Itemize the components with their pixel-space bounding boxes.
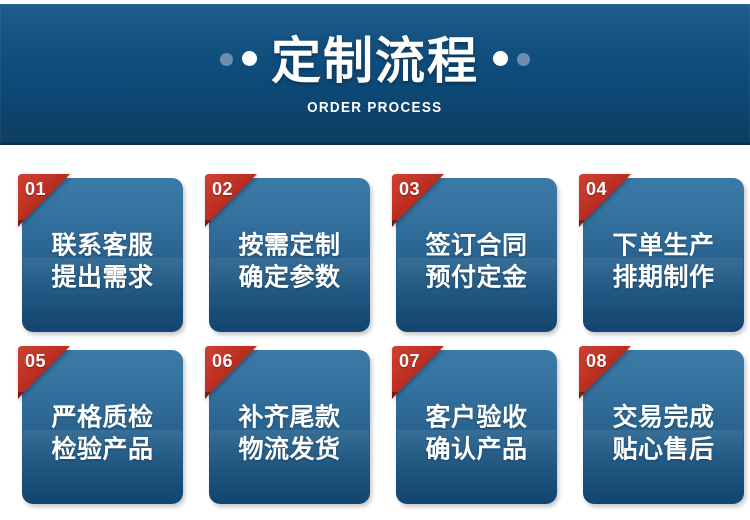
page-subtitle: ORDER PROCESS	[307, 100, 442, 116]
step-card[interactable]: 06 补齐尾款 物流发货	[209, 350, 370, 504]
step-line-1: 交易完成	[583, 403, 744, 435]
step-line-2: 排期制作	[583, 262, 744, 294]
step-line-1: 联系客服	[22, 231, 183, 263]
step-line-1: 客户验收	[396, 403, 557, 435]
step-card-text: 严格质检 检验产品	[22, 389, 183, 466]
dot-muted-icon	[220, 53, 233, 66]
step-number: 01	[25, 180, 46, 198]
decorative-dots-left	[220, 51, 257, 70]
step-card-text: 客户验收 确认产品	[396, 389, 557, 466]
step-card[interactable]: 04 下单生产 排期制作	[583, 178, 744, 332]
step-card-text: 按需定制 确定参数	[209, 217, 370, 294]
step-card-row-2: 05 严格质检 检验产品	[0, 350, 750, 504]
step-card[interactable]: 05 严格质检 检验产品	[22, 350, 183, 504]
dot-white-icon	[242, 51, 257, 66]
step-card[interactable]: 08 交易完成 贴心售后	[583, 350, 744, 504]
step-card[interactable]: 03 签订合同 预付定金	[396, 178, 557, 332]
step-line-1: 补齐尾款	[209, 403, 370, 435]
step-line-2: 确认产品	[396, 434, 557, 466]
step-line-2: 确定参数	[209, 262, 370, 294]
step-card[interactable]: 01 联系客服 提出需求	[22, 178, 183, 332]
title-row: 定制流程	[220, 36, 530, 86]
step-card-text: 交易完成 贴心售后	[583, 389, 744, 466]
step-line-2: 贴心售后	[583, 434, 744, 466]
decorative-dots-right	[493, 51, 530, 70]
step-card-text: 下单生产 排期制作	[583, 217, 744, 294]
page-title: 定制流程	[271, 36, 479, 86]
step-card[interactable]: 07 客户验收 确认产品	[396, 350, 557, 504]
header-banner: 定制流程 ORDER PROCESS	[0, 4, 750, 145]
step-card-text: 联系客服 提出需求	[22, 217, 183, 294]
step-card-text: 签订合同 预付定金	[396, 217, 557, 294]
step-number: 04	[586, 180, 607, 198]
step-line-1: 按需定制	[209, 231, 370, 263]
step-line-2: 检验产品	[22, 434, 183, 466]
step-number: 06	[212, 352, 233, 370]
step-card-text: 补齐尾款 物流发货	[209, 389, 370, 466]
step-line-1: 下单生产	[583, 231, 744, 263]
step-line-2: 物流发货	[209, 434, 370, 466]
step-line-2: 提出需求	[22, 262, 183, 294]
dot-muted-icon	[517, 53, 530, 66]
step-number: 03	[399, 180, 420, 198]
step-line-1: 严格质检	[22, 403, 183, 435]
step-card-row-1: 01 联系客服 提出需求	[0, 178, 750, 332]
step-number: 07	[399, 352, 420, 370]
step-line-2: 预付定金	[396, 262, 557, 294]
step-line-1: 签订合同	[396, 231, 557, 263]
step-number: 08	[586, 352, 607, 370]
step-card[interactable]: 02 按需定制 确定参数	[209, 178, 370, 332]
dot-white-icon	[493, 51, 508, 66]
step-card-grid: 01 联系客服 提出需求	[0, 178, 750, 504]
step-number: 02	[212, 180, 233, 198]
header-banner-content: 定制流程 ORDER PROCESS	[0, 4, 750, 145]
step-number: 05	[25, 352, 46, 370]
order-process-page: 定制流程 ORDER PROCESS	[0, 0, 750, 520]
